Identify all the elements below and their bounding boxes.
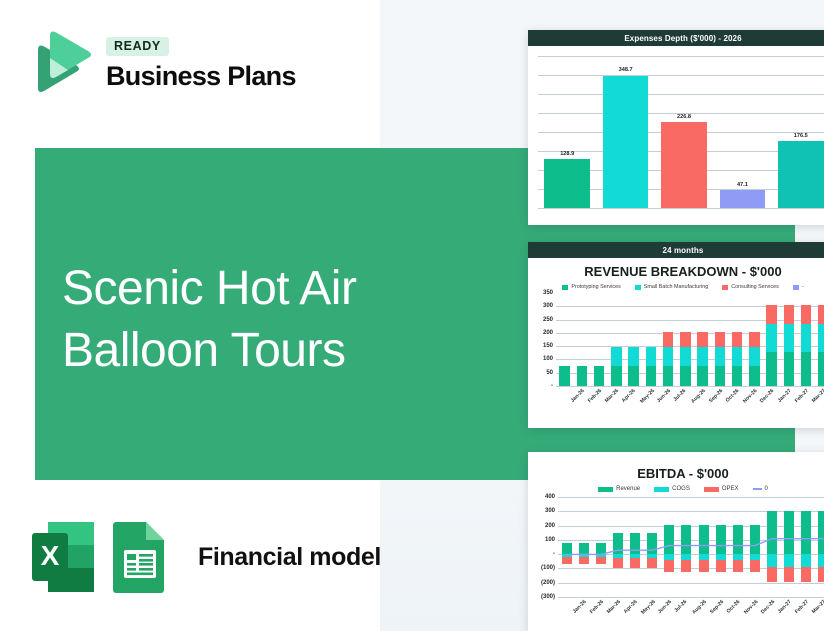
bar-segment bbox=[749, 366, 760, 386]
legend-label: COGS bbox=[672, 486, 690, 492]
excel-file-icon: X bbox=[30, 520, 96, 594]
play-triangle-logo-icon bbox=[28, 28, 92, 96]
y-axis-tick: 300 bbox=[545, 508, 555, 514]
bar bbox=[661, 122, 707, 208]
x-axis-tick: Apr-26 bbox=[623, 599, 639, 615]
x-axis-tick: Jul-26 bbox=[674, 599, 689, 614]
bar-segment bbox=[697, 366, 708, 386]
legend-label: Consulting Services bbox=[731, 284, 779, 290]
brand-logo[interactable]: READY Business Plans bbox=[28, 28, 296, 96]
bar-segment bbox=[715, 332, 726, 347]
stacked-bar bbox=[611, 293, 622, 386]
x-axis-tick: Jan-26 bbox=[569, 388, 585, 404]
legend-item: Prototyping Services bbox=[562, 284, 620, 290]
ebitda-plot-area: 400300200100-(100)(200)(300) bbox=[558, 497, 824, 597]
x-axis-tick: Mar-26 bbox=[606, 599, 622, 615]
y-axis-tick: (200) bbox=[541, 580, 555, 586]
x-axis-tick: Mar-27 bbox=[811, 388, 824, 404]
bar-segment bbox=[611, 366, 622, 386]
x-axis-tick: May-26 bbox=[640, 599, 657, 616]
stacked-bar bbox=[680, 293, 691, 386]
stacked-bar bbox=[559, 293, 570, 386]
legend-label: Prototyping Services bbox=[571, 284, 620, 290]
bar bbox=[720, 190, 766, 208]
x-axis-tick: Dec-26 bbox=[760, 599, 776, 615]
x-axis-tick: Nov-26 bbox=[743, 599, 759, 615]
bar-segment bbox=[749, 332, 760, 347]
revenue-plot-area: 35030025020015010050- bbox=[556, 293, 824, 386]
stacked-bar bbox=[766, 293, 777, 386]
bar-segment bbox=[594, 366, 605, 386]
x-axis-tick: Aug-26 bbox=[692, 599, 709, 616]
revenue-x-axis: Jan-26Feb-26Mar-26Apr-26May-26Jun-26Jul-… bbox=[556, 386, 824, 416]
footer-formats: X Financial model bbox=[30, 520, 381, 594]
x-axis-tick: Jun-26 bbox=[657, 599, 673, 615]
revenue-legend: Prototyping ServicesSmall Batch Manufact… bbox=[528, 281, 824, 291]
bar-segment bbox=[784, 352, 795, 386]
y-axis-tick: - bbox=[551, 383, 553, 389]
ready-badge: READY bbox=[106, 37, 169, 56]
legend-item: 0 bbox=[753, 486, 768, 492]
legend-item: OPEX bbox=[704, 486, 739, 492]
bar-segment bbox=[680, 332, 691, 347]
bar-segment bbox=[732, 332, 743, 347]
google-sheets-file-icon bbox=[110, 520, 176, 594]
ebitda-line bbox=[558, 497, 824, 597]
bar-segment bbox=[732, 366, 743, 386]
legend-item: Small Batch Manufacturing bbox=[635, 284, 708, 290]
bar-segment bbox=[784, 305, 795, 324]
legend-label: - bbox=[802, 284, 804, 290]
bar-segment bbox=[801, 305, 812, 324]
bar-segment bbox=[766, 352, 777, 386]
x-axis-tick: Jul-26 bbox=[673, 388, 688, 403]
footer-label: Financial model bbox=[198, 543, 381, 572]
gridline bbox=[538, 56, 824, 57]
y-axis-tick: 150 bbox=[543, 343, 553, 349]
y-axis-tick: 100 bbox=[545, 537, 555, 543]
legend-swatch-icon bbox=[793, 285, 799, 290]
legend-swatch-icon bbox=[562, 285, 568, 290]
bar-segment bbox=[801, 352, 812, 386]
bar-segment bbox=[680, 366, 691, 386]
bar-segment bbox=[577, 366, 588, 386]
stacked-bar bbox=[732, 293, 743, 386]
gridline bbox=[538, 94, 824, 95]
x-axis-tick: Jan-27 bbox=[777, 599, 793, 615]
x-axis-tick: Oct-26 bbox=[725, 599, 741, 615]
x-axis-tick: Jan-27 bbox=[776, 388, 792, 404]
expenses-plot-area: 128.9348.7226.847.1176.5 bbox=[538, 56, 824, 208]
legend-label: 0 bbox=[765, 486, 768, 492]
x-axis-tick: Aug-26 bbox=[691, 388, 708, 405]
chart-card-ebitda[interactable]: EBITDA - $'000 RevenueCOGSOPEX0 40030020… bbox=[528, 452, 824, 631]
bar-value-label: 128.9 bbox=[560, 151, 574, 157]
x-axis-tick: Apr-26 bbox=[621, 388, 637, 404]
x-axis-tick: Feb-26 bbox=[587, 388, 603, 404]
bar-value-label: 348.7 bbox=[619, 67, 633, 73]
stacked-bar bbox=[697, 293, 708, 386]
bar bbox=[603, 76, 649, 209]
bar-segment bbox=[801, 324, 812, 352]
legend-label: Revenue bbox=[616, 486, 640, 492]
y-axis-tick: (300) bbox=[541, 594, 555, 600]
revenue-title: REVENUE BREAKDOWN - $'000 bbox=[528, 258, 824, 281]
brand-name: Business Plans bbox=[106, 61, 296, 92]
x-axis-tick: Dec-26 bbox=[759, 388, 775, 404]
y-axis-tick: 350 bbox=[543, 290, 553, 296]
y-axis-tick: 300 bbox=[543, 303, 553, 309]
legend-label: OPEX bbox=[722, 486, 739, 492]
bar-segment bbox=[766, 324, 777, 352]
y-axis-tick: 250 bbox=[543, 317, 553, 323]
bar-segment bbox=[559, 366, 570, 386]
chart-card-expenses[interactable]: Expenses Depth ($'000) - 2026 128.9348.7… bbox=[528, 30, 824, 225]
stacked-bar bbox=[646, 293, 657, 386]
bar-segment bbox=[818, 305, 824, 324]
legend-label: Small Batch Manufacturing bbox=[644, 284, 708, 290]
y-axis-tick: 100 bbox=[543, 356, 553, 362]
x-axis-tick: Feb-26 bbox=[589, 599, 605, 615]
y-axis-tick: 200 bbox=[543, 330, 553, 336]
bar-value-label: 47.1 bbox=[737, 182, 748, 188]
x-axis-tick: Mar-26 bbox=[604, 388, 620, 404]
brand-text-block: READY Business Plans bbox=[106, 33, 296, 92]
stacked-bar bbox=[801, 293, 812, 386]
gridline bbox=[538, 208, 824, 209]
bar-value-label: 226.8 bbox=[677, 114, 691, 120]
bar-segment bbox=[715, 366, 726, 386]
legend-swatch-icon bbox=[753, 488, 762, 490]
x-axis-tick: Mar-27 bbox=[811, 599, 824, 615]
ebitda-x-axis: Jan-26Feb-26Mar-26Apr-26May-26Jun-26Jul-… bbox=[558, 597, 824, 625]
bar bbox=[778, 141, 824, 208]
bar-segment bbox=[784, 324, 795, 352]
stacked-bar bbox=[663, 293, 674, 386]
x-axis-tick: Feb-27 bbox=[794, 388, 810, 404]
legend-swatch-icon bbox=[654, 487, 669, 492]
bar-segment bbox=[628, 366, 639, 386]
bar-segment bbox=[663, 332, 674, 347]
bar-segment bbox=[818, 324, 824, 352]
y-axis-tick: (100) bbox=[541, 565, 555, 571]
x-axis-tick: Nov-26 bbox=[742, 388, 758, 404]
y-axis-tick: 400 bbox=[545, 494, 555, 500]
legend-item: COGS bbox=[654, 486, 690, 492]
bar-segment bbox=[663, 347, 674, 366]
legend-item: Consulting Services bbox=[722, 284, 779, 290]
bar-segment bbox=[818, 352, 824, 386]
bar-segment bbox=[680, 347, 691, 366]
bar-segment bbox=[697, 347, 708, 366]
stacked-bar bbox=[715, 293, 726, 386]
page-title: Scenic Hot Air Balloon Tours bbox=[62, 258, 482, 382]
expenses-banner: Expenses Depth ($'000) - 2026 bbox=[528, 30, 824, 46]
bar-segment bbox=[663, 366, 674, 386]
x-axis-tick: Oct-26 bbox=[725, 388, 741, 404]
legend-swatch-icon bbox=[722, 285, 728, 290]
stacked-bar bbox=[594, 293, 605, 386]
bar bbox=[544, 159, 590, 208]
y-axis-tick: 200 bbox=[545, 523, 555, 529]
x-axis-tick: Feb-27 bbox=[794, 599, 810, 615]
x-axis-tick: Sep-26 bbox=[709, 599, 725, 615]
svg-text:X: X bbox=[41, 540, 60, 571]
x-axis-tick: Jun-26 bbox=[656, 388, 672, 404]
x-axis-tick: May-26 bbox=[639, 388, 656, 405]
bar-segment bbox=[646, 347, 657, 366]
legend-swatch-icon bbox=[598, 487, 613, 492]
x-axis-tick: Jan-26 bbox=[571, 599, 587, 615]
x-axis-tick: Sep-26 bbox=[708, 388, 724, 404]
gridline bbox=[538, 75, 824, 76]
legend-swatch-icon bbox=[635, 285, 641, 290]
y-axis-tick: 50 bbox=[546, 370, 553, 376]
bar-segment bbox=[697, 332, 708, 347]
legend-item: Revenue bbox=[598, 486, 640, 492]
ebitda-title: EBITDA - $'000 bbox=[528, 452, 824, 483]
bar-segment bbox=[732, 347, 743, 366]
legend-item: - bbox=[793, 284, 804, 290]
chart-card-revenue[interactable]: 24 months REVENUE BREAKDOWN - $'000 Prot… bbox=[528, 242, 824, 428]
bar-segment bbox=[766, 305, 777, 324]
stacked-bar bbox=[577, 293, 588, 386]
bar-segment bbox=[611, 347, 622, 366]
bar-segment bbox=[646, 366, 657, 386]
bar-segment bbox=[749, 347, 760, 366]
bar-segment bbox=[715, 347, 726, 366]
bar-value-label: 176.5 bbox=[794, 133, 808, 139]
revenue-banner: 24 months bbox=[528, 242, 824, 258]
bar-segment bbox=[628, 347, 639, 366]
y-axis-tick: - bbox=[553, 551, 555, 557]
stacked-bar bbox=[784, 293, 795, 386]
stacked-bar bbox=[628, 293, 639, 386]
ebitda-legend: RevenueCOGSOPEX0 bbox=[528, 483, 824, 493]
stacked-bar bbox=[749, 293, 760, 386]
stacked-bar bbox=[818, 293, 824, 386]
legend-swatch-icon bbox=[704, 487, 719, 492]
